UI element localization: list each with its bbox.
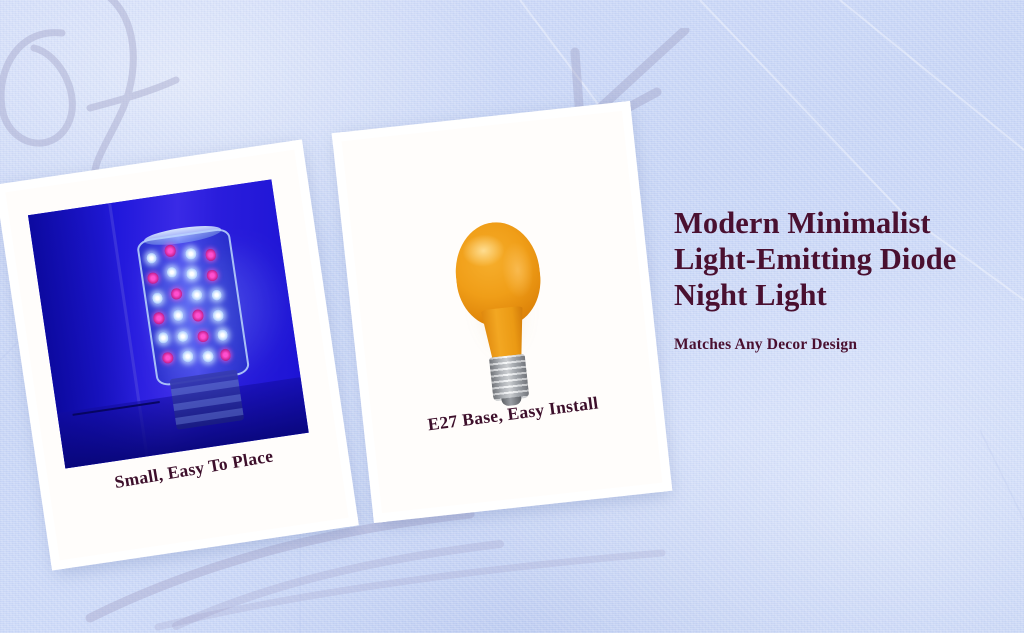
bulb-e27-screw-base [489,354,530,402]
product-card-e27-orange-bulb[interactable]: E27 Base, Easy Install [332,101,673,523]
led-bulb-scene [28,179,309,468]
product-card-led-corn-bulb[interactable]: Small, Easy To Place [0,139,359,570]
headline-line-1: Modern Minimalist [674,206,931,240]
orange-bulb-graphic [445,217,559,401]
page-subtitle: Matches Any Decor Design [674,336,994,354]
headline-line-3: Night Light [674,278,827,312]
promo-text-block: Modern Minimalist Light-Emitting Diode N… [674,206,994,354]
product-photo-e27-orange-bulb [332,101,673,523]
page-title: Modern Minimalist Light-Emitting Diode N… [674,206,994,314]
product-photo-led-corn-bulb [28,179,309,468]
promo-banner: Small, Easy To Place E27 Base, Easy Inst… [0,0,1024,633]
corn-bulb-base [170,370,244,430]
brush-stroke-doodle-secondary [150,545,670,633]
headline-line-2: Light-Emitting Diode [674,242,956,276]
